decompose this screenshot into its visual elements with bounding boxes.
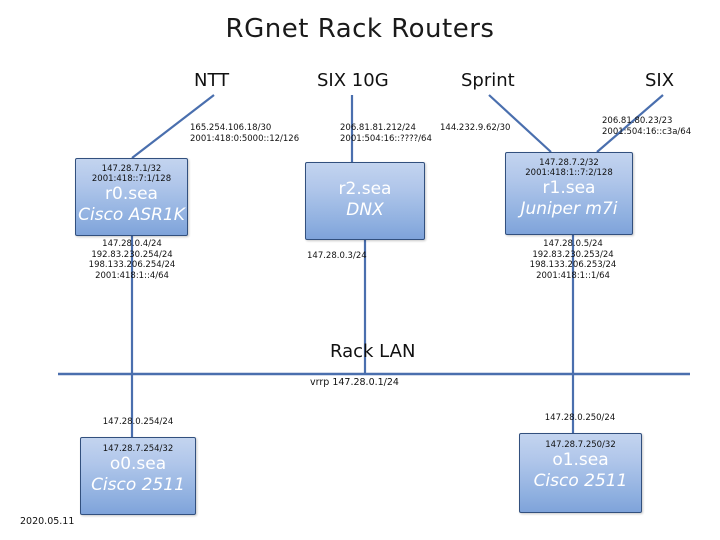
lan-addrs-r2: 147.28.0.3/24 [307,251,367,262]
lan-addrs-r1: 147.28.0.5/24 192.83.230.253/24 198.133.… [493,239,653,281]
uplink-addrs-six10g: 206.81.81.212/24 2001:504:16::????/64 [340,123,432,144]
node-o0-addr1: 147.28.7.254/32 [81,444,195,454]
lan-addrs-r0: 147.28.0.4/24 192.83.230.254/24 198.133.… [52,239,212,281]
uplink-addrs-six: 206.81.80.23/23 2001:504:16::c3a/64 [602,116,691,137]
node-r0-addr1: 147.28.7.1/32 [76,164,187,174]
peer-label-six: SIX [645,70,674,91]
uplink-six-line2: 2001:504:16::c3a/64 [602,127,691,138]
node-r2-name: r2.sea [306,179,424,200]
uplink-six10g-line1: 206.81.81.212/24 [340,123,432,134]
node-o0-model: Cisco 2511 [81,475,195,496]
diagram-canvas: RGnet Rack Routers NTT SIX 10G Sprint SI… [0,0,720,540]
lan-r0-line4: 2001:418:1::4/64 [52,271,212,282]
lan-r0-line2: 192.83.230.254/24 [52,250,212,261]
lan-r1-line2: 192.83.230.253/24 [493,250,653,261]
lan-o1-line1: 147.28.0.250/24 [500,413,660,424]
uplink-ntt-line2: 2001:418:0:5000::12/126 [190,134,299,145]
node-r0-addr2: 2001:418::7:1/128 [76,174,187,184]
rack-lan-vrrp: vrrp 147.28.0.1/24 [310,377,399,388]
node-o1-sea[interactable]: 147.28.7.250/32 o1.sea Cisco 2511 [519,433,642,513]
rack-lan-label: Rack LAN [330,341,415,362]
peer-label-sprint: Sprint [461,70,515,91]
lan-r2-line1: 147.28.0.3/24 [307,251,367,262]
node-r1-name: r1.sea [506,178,632,199]
lan-addrs-o0: 147.28.0.254/24 [58,417,218,428]
node-r2-model: DNX [306,200,424,221]
lan-r1-line1: 147.28.0.5/24 [493,239,653,250]
node-o1-addr1: 147.28.7.250/32 [520,440,641,450]
diagram-date: 2020.05.11 [20,516,74,527]
peer-label-six10g: SIX 10G [317,70,389,91]
node-r1-sea[interactable]: 147.28.7.2/32 2001:418:1::7:2/128 r1.sea… [505,152,633,235]
uplink-addrs-ntt: 165.254.106.18/30 2001:418:0:5000::12/12… [190,123,299,144]
uplink-six-line1: 206.81.80.23/23 [602,116,691,127]
node-o0-name: o0.sea [81,454,195,475]
uplink-sprint-line1: 144.232.9.62/30 [440,123,510,134]
uplink-six10g-line2: 2001:504:16::????/64 [340,134,432,145]
lan-r0-line1: 147.28.0.4/24 [52,239,212,250]
node-r2-sea[interactable]: r2.sea DNX [305,162,425,240]
peer-label-ntt: NTT [194,70,229,91]
node-o1-name: o1.sea [520,450,641,471]
uplink-ntt-line1: 165.254.106.18/30 [190,123,299,134]
node-r1-addr2: 2001:418:1::7:2/128 [506,168,632,178]
lan-r1-line4: 2001:418:1::1/64 [493,271,653,282]
lan-o0-line1: 147.28.0.254/24 [58,417,218,428]
uplink-addrs-sprint: 144.232.9.62/30 [440,123,510,134]
node-o0-sea[interactable]: 147.28.7.254/32 o0.sea Cisco 2511 [80,437,196,515]
node-r0-sea[interactable]: 147.28.7.1/32 2001:418::7:1/128 r0.sea C… [75,158,188,236]
lan-r1-line3: 198.133.206.253/24 [493,260,653,271]
lan-r0-line3: 198.133.206.254/24 [52,260,212,271]
node-r1-model: Juniper m7i [506,199,632,220]
lan-addrs-o1: 147.28.0.250/24 [500,413,660,424]
node-r0-name: r0.sea [76,184,187,205]
node-o1-model: Cisco 2511 [520,471,641,492]
page-title: RGnet Rack Routers [0,14,720,44]
node-r0-model: Cisco ASR1K [76,205,187,226]
node-r1-addr1: 147.28.7.2/32 [506,158,632,168]
